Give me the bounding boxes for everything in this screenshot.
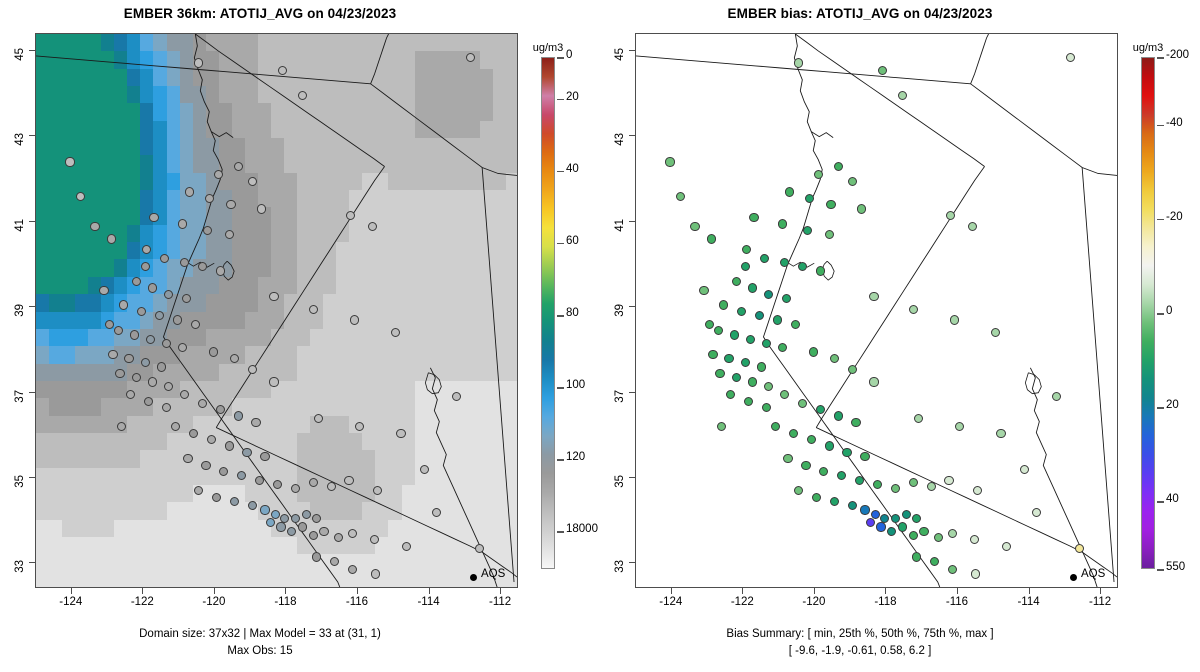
aqs-monitor-point: [255, 476, 264, 485]
aqs-monitor-point: [330, 557, 339, 566]
aqs-monitor-point: [402, 542, 411, 551]
aqs-monitor-point: [105, 320, 114, 329]
aqs-monitor-point: [334, 533, 343, 542]
aqs-monitor-point: [189, 429, 198, 438]
aqs-monitor-point: [746, 335, 755, 344]
model-map-plot: [35, 33, 518, 588]
aqs-monitor-point: [757, 362, 766, 371]
aqs-monitor-point: [76, 192, 85, 201]
aqs-monitor-point: [291, 484, 300, 493]
y-axis-label: 39: [14, 304, 26, 338]
y-axis-tick: [629, 477, 635, 478]
colorbar-tick-label: -20: [1166, 211, 1183, 223]
aqs-monitor-point: [132, 277, 141, 286]
aqs-monitor-point: [927, 482, 936, 491]
aqs-monitor-layer-bias: [636, 34, 1117, 587]
aqs-monitor-point: [198, 399, 207, 408]
x-axis-tick: [285, 588, 286, 594]
aqs-monitor-point: [771, 422, 780, 431]
aqs-monitor-point: [230, 497, 239, 506]
aqs-monitor-point: [327, 482, 336, 491]
aqs-monitor-point: [741, 358, 750, 367]
aqs-monitor-point: [371, 569, 380, 578]
aqs-monitor-point: [946, 211, 955, 220]
aqs-monitor-point: [764, 290, 773, 299]
aqs-monitor-point: [452, 392, 461, 401]
colorbar-tick: [1157, 219, 1164, 221]
aqs-monitor-point: [855, 476, 864, 485]
aqs-monitor-point: [1002, 542, 1011, 551]
x-axis-label: -116: [934, 596, 980, 608]
aqs-monitor-point: [732, 373, 741, 382]
aqs-monitor-point: [991, 328, 1000, 337]
aqs-monitor-point: [344, 476, 353, 485]
aqs-monitor-point: [794, 486, 803, 495]
aqs-monitor-point: [420, 465, 429, 474]
aqs-monitor-point: [108, 350, 117, 359]
x-axis-label: -114: [406, 596, 452, 608]
aqs-monitor-point: [178, 343, 187, 352]
aqs-monitor-point: [785, 187, 794, 196]
y-axis-label: 35: [14, 475, 26, 509]
aqs-monitor-point: [162, 339, 171, 348]
x-axis-tick: [671, 588, 672, 594]
aqs-monitor-point: [1032, 508, 1041, 517]
colorbar-tick-label: 20: [566, 91, 579, 103]
aqs-monitor-point: [773, 315, 782, 324]
aqs-monitor-point: [724, 354, 733, 363]
aqs-monitor-point: [183, 454, 192, 463]
aqs-monitor-point: [762, 339, 771, 348]
x-axis-label: -120: [191, 596, 237, 608]
y-axis-tick: [629, 221, 635, 222]
aqs-monitor-point: [714, 326, 723, 335]
aqs-monitor-point: [160, 254, 169, 263]
y-axis-label: 35: [614, 475, 626, 509]
model-caption-line1: Domain size: 37x32 | Max Model = 33 at (…: [0, 628, 520, 640]
y-axis-tick: [29, 50, 35, 51]
aqs-monitor-point: [789, 429, 798, 438]
x-axis-label: -120: [791, 596, 837, 608]
aqs-monitor-point: [708, 350, 717, 359]
aqs-monitor-point: [180, 258, 189, 267]
x-axis-label: -122: [719, 596, 765, 608]
aqs-monitor-point: [857, 204, 866, 213]
colorbar-tick-label: 40: [1166, 493, 1179, 505]
aqs-monitor-point: [782, 294, 791, 303]
aqs-monitor-point: [148, 283, 157, 292]
aqs-monitor-point: [309, 305, 318, 314]
aqs-monitor-point: [830, 354, 839, 363]
aqs-monitor-point: [805, 194, 814, 203]
aqs-monitor-point: [194, 58, 203, 67]
aqs-monitor-point: [909, 305, 918, 314]
aqs-monitor-point: [137, 307, 146, 316]
aqs-monitor-point: [748, 377, 757, 386]
aqs-monitor-point: [848, 365, 857, 374]
aqs-monitor-point: [107, 234, 116, 243]
aqs-monitor-point: [373, 486, 382, 495]
aqs-monitor-point: [866, 518, 875, 527]
x-axis-tick: [71, 588, 72, 594]
aqs-monitor-point: [287, 527, 296, 536]
colorbar-tick: [557, 171, 564, 173]
x-axis-label: -112: [1077, 596, 1123, 608]
aqs-monitor-point: [742, 245, 751, 254]
y-axis-label: 45: [14, 48, 26, 82]
aqs-monitor-point: [891, 484, 900, 493]
aqs-monitor-point: [309, 478, 318, 487]
colorbar-left: [541, 57, 555, 569]
aqs-monitor-point: [146, 335, 155, 344]
aqs-monitor-point: [744, 397, 753, 406]
y-axis-tick: [629, 562, 635, 563]
aqs-monitor-point: [902, 510, 911, 519]
aqs-monitor-point: [912, 514, 921, 523]
aqs-monitor-point: [919, 527, 928, 536]
aqs-monitor-point: [819, 467, 828, 476]
colorbar-tick-label: 80: [566, 307, 579, 319]
aqs-monitor-point: [141, 262, 150, 271]
aqs-monitor-point: [955, 422, 964, 431]
y-axis-tick: [629, 306, 635, 307]
aqs-monitor-point: [234, 411, 243, 420]
aqs-monitor-point: [141, 358, 150, 367]
y-axis-label: 33: [614, 560, 626, 594]
aqs-monitor-point: [126, 390, 135, 399]
aqs-monitor-point: [242, 448, 251, 457]
bias-map-plot: [635, 33, 1118, 588]
aqs-monitor-point: [748, 283, 757, 292]
aqs-monitor-point: [783, 454, 792, 463]
aqs-monitor-point: [230, 354, 239, 363]
colorbar-tick: [1157, 313, 1164, 315]
aqs-monitor-point: [350, 315, 359, 324]
aqs-monitor-point: [466, 53, 475, 62]
aqs-monitor-point: [124, 354, 133, 363]
x-axis-label: -112: [477, 596, 523, 608]
aqs-monitor-point: [780, 390, 789, 399]
aqs-monitor-point: [182, 294, 191, 303]
aqs-monitor-point: [475, 544, 484, 553]
aqs-monitor-point: [891, 514, 900, 523]
aqs-monitor-point: [142, 245, 151, 254]
colorbar-tick: [1157, 569, 1164, 571]
aqs-monitor-point: [707, 234, 716, 243]
colorbar-tick: [557, 387, 564, 389]
colorbar-right: [1141, 57, 1155, 569]
aqs-monitor-point: [968, 222, 977, 231]
aqs-monitor-point: [162, 403, 171, 412]
page-title-bias: EMBER bias: ATOTIJ_AVG on 04/23/2023: [600, 6, 1120, 21]
y-axis-label: 37: [14, 390, 26, 424]
aqs-monitor-point: [130, 330, 139, 339]
colorbar-tick: [1157, 125, 1164, 127]
x-axis-label: -124: [48, 596, 94, 608]
aqs-monitor-point: [194, 486, 203, 495]
aqs-monitor-point: [1020, 465, 1029, 474]
aqs-monitor-point: [755, 311, 764, 320]
aqs-monitor-point: [749, 213, 758, 222]
aqs-monitor-point: [216, 266, 225, 275]
y-axis-tick: [629, 392, 635, 393]
x-axis-label: -118: [262, 596, 308, 608]
aqs-monitor-point: [65, 157, 74, 166]
aqs-monitor-point: [148, 377, 157, 386]
x-axis-label: -122: [119, 596, 165, 608]
aqs-monitor-point: [201, 461, 210, 470]
aqs-monitor-point: [164, 290, 173, 299]
x-axis-tick: [885, 588, 886, 594]
colorbar-tick-label: 20: [1166, 399, 1179, 411]
aqs-monitor-point: [234, 162, 243, 171]
aqs-monitor-point: [248, 365, 257, 374]
aqs-monitor-point: [934, 533, 943, 542]
aqs-monitor-point: [690, 222, 699, 231]
aqs-monitor-point: [368, 222, 377, 231]
aqs-monitor-point: [191, 320, 200, 329]
aqs-monitor-point: [309, 531, 318, 540]
aqs-monitor-point: [248, 501, 257, 510]
bias-caption-line2: [ -9.6, -1.9, -0.61, 0.58, 6.2 ]: [600, 645, 1120, 657]
x-axis-tick: [429, 588, 430, 594]
aqs-monitor-point: [212, 493, 221, 502]
aqs-monitor-point: [273, 480, 282, 489]
aqs-monitor-point: [825, 441, 834, 450]
y-axis-tick: [29, 562, 35, 563]
aqs-monitor-point: [302, 510, 311, 519]
aqs-monitor-point: [807, 435, 816, 444]
x-axis-tick: [214, 588, 215, 594]
colorbar-tick-label: 550: [1166, 561, 1185, 573]
aqs-monitor-point: [737, 307, 746, 316]
aqs-monitor-point: [814, 170, 823, 179]
x-axis-label: -118: [862, 596, 908, 608]
aqs-monitor-point: [741, 262, 750, 271]
colorbar-tick: [557, 57, 564, 59]
aqs-monitor-point: [114, 326, 123, 335]
aqs-monitor-point: [973, 486, 982, 495]
aqs-monitor-point: [930, 557, 939, 566]
aqs-monitor-point: [171, 422, 180, 431]
x-axis-tick: [957, 588, 958, 594]
aqs-legend-label-bias: AQS: [1081, 568, 1105, 580]
y-axis-label: 39: [614, 304, 626, 338]
aqs-monitor-point: [1052, 392, 1061, 401]
aqs-monitor-point: [144, 397, 153, 406]
aqs-monitor-point: [260, 452, 269, 461]
aqs-monitor-point: [912, 552, 921, 561]
y-axis-tick: [29, 306, 35, 307]
aqs-monitor-point: [225, 230, 234, 239]
model-caption-line2: Max Obs: 15: [0, 645, 520, 657]
aqs-monitor-point: [207, 435, 216, 444]
aqs-monitor-point: [164, 382, 173, 391]
colorbar-tick: [557, 459, 564, 461]
aqs-monitor-point: [876, 522, 885, 531]
x-axis-label: -124: [648, 596, 694, 608]
aqs-monitor-point: [676, 192, 685, 201]
aqs-monitor-point: [830, 497, 839, 506]
aqs-monitor-point: [887, 527, 896, 536]
aqs-monitor-point: [816, 266, 825, 275]
aqs-monitor-layer-model: [36, 34, 517, 587]
aqs-monitor-point: [157, 362, 166, 371]
aqs-monitor-point: [115, 369, 124, 378]
y-axis-label: 45: [614, 48, 626, 82]
y-axis-label: 41: [614, 219, 626, 253]
colorbar-tick-label: 0: [566, 49, 572, 61]
aqs-monitor-point: [778, 219, 787, 228]
aqs-monitor-point: [909, 478, 918, 487]
aqs-monitor-point: [837, 471, 846, 480]
aqs-monitor-point: [801, 461, 810, 470]
x-axis-tick: [142, 588, 143, 594]
aqs-monitor-point: [269, 292, 278, 301]
colorbar-tick: [1157, 501, 1164, 503]
aqs-monitor-point: [119, 300, 128, 309]
aqs-monitor-point: [809, 347, 818, 356]
colorbar-tick-label: -200: [1166, 49, 1189, 61]
y-axis-tick: [629, 135, 635, 136]
aqs-monitor-point: [205, 194, 214, 203]
colorbar-tick: [557, 243, 564, 245]
colorbar-tick: [1157, 407, 1164, 409]
aqs-monitor-point: [948, 529, 957, 538]
aqs-monitor-point: [726, 390, 735, 399]
aqs-monitor-point: [699, 286, 708, 295]
aqs-monitor-point: [719, 300, 728, 309]
aqs-monitor-point: [278, 66, 287, 75]
aqs-monitor-point: [269, 377, 278, 386]
aqs-monitor-point: [226, 200, 235, 209]
colorbar-tick: [557, 531, 564, 533]
aqs-monitor-point: [717, 422, 726, 431]
aqs-monitor-point: [944, 476, 953, 485]
aqs-monitor-point: [851, 418, 860, 427]
aqs-monitor-point: [705, 320, 714, 329]
aqs-monitor-point: [348, 529, 357, 538]
aqs-monitor-point: [348, 565, 357, 574]
aqs-monitor-point: [180, 390, 189, 399]
y-axis-tick: [29, 221, 35, 222]
aqs-monitor-point: [760, 254, 769, 263]
aqs-monitor-point: [869, 292, 878, 301]
y-axis-tick: [29, 135, 35, 136]
aqs-monitor-point: [173, 315, 182, 324]
aqs-monitor-point: [155, 311, 164, 320]
aqs-monitor-point: [812, 493, 821, 502]
aqs-legend-dot: [470, 574, 477, 581]
aqs-monitor-point: [225, 441, 234, 450]
aqs-legend-label: AQS: [481, 568, 505, 580]
aqs-monitor-point: [132, 373, 141, 382]
aqs-monitor-point: [1075, 544, 1084, 553]
aqs-monitor-point: [780, 258, 789, 267]
aqs-monitor-point: [198, 262, 207, 271]
x-axis-label: -114: [1006, 596, 1052, 608]
aqs-monitor-point: [791, 320, 800, 329]
aqs-monitor-point: [251, 418, 260, 427]
aqs-monitor-point: [396, 429, 405, 438]
colorbar-tick-label: 100: [566, 379, 585, 391]
aqs-monitor-point: [266, 518, 275, 527]
aqs-monitor-point: [826, 200, 835, 209]
aqs-monitor-point: [203, 226, 212, 235]
aqs-monitor-point: [214, 170, 223, 179]
aqs-monitor-point: [209, 347, 218, 356]
aqs-monitor-point: [260, 505, 269, 514]
aqs-monitor-point: [971, 569, 980, 578]
aqs-monitor-point: [715, 369, 724, 378]
aqs-monitor-point: [99, 286, 108, 295]
y-axis-label: 43: [14, 133, 26, 167]
bias-caption-line1: Bias Summary: [ min, 25th %, 50th %, 75t…: [600, 628, 1120, 640]
aqs-monitor-point: [312, 514, 321, 523]
aqs-monitor-point: [816, 405, 825, 414]
aqs-monitor-point: [257, 204, 266, 213]
aqs-monitor-point: [355, 422, 364, 431]
aqs-monitor-point: [319, 527, 328, 536]
x-axis-tick: [814, 588, 815, 594]
aqs-monitor-point: [970, 535, 979, 544]
aqs-monitor-point: [291, 514, 300, 523]
aqs-monitor-point: [873, 480, 882, 489]
aqs-monitor-point: [948, 565, 957, 574]
y-axis-label: 41: [14, 219, 26, 253]
aqs-monitor-point: [848, 501, 857, 510]
aqs-monitor-point: [298, 522, 307, 531]
aqs-monitor-point: [314, 414, 323, 423]
aqs-monitor-point: [391, 328, 400, 337]
aqs-monitor-point: [834, 411, 843, 420]
aqs-monitor-point: [276, 522, 285, 531]
aqs-monitor-point: [432, 508, 441, 517]
aqs-monitor-point: [878, 66, 887, 75]
aqs-monitor-point: [178, 219, 187, 228]
aqs-monitor-point: [848, 177, 857, 186]
aqs-monitor-point: [825, 230, 834, 239]
aqs-monitor-point: [219, 467, 228, 476]
aqs-monitor-point: [996, 429, 1005, 438]
colorbar-tick-label: 120: [566, 451, 585, 463]
y-axis-label: 43: [614, 133, 626, 167]
aqs-monitor-point: [312, 552, 321, 561]
aqs-legend-dot-bias: [1070, 574, 1077, 581]
x-axis-tick: [742, 588, 743, 594]
aqs-monitor-point: [730, 330, 739, 339]
aqs-monitor-point: [898, 91, 907, 100]
aqs-monitor-point: [834, 162, 843, 171]
aqs-monitor-point: [898, 522, 907, 531]
aqs-monitor-point: [778, 343, 787, 352]
aqs-monitor-point: [762, 403, 771, 412]
y-axis-label: 33: [14, 560, 26, 594]
colorbar-tick: [557, 99, 564, 101]
colorbar-tick: [1157, 57, 1164, 59]
aqs-monitor-point: [237, 471, 246, 480]
aqs-monitor-point: [346, 211, 355, 220]
panel-bias: EMBER bias: ATOTIJ_AVG on 04/23/2023 333…: [600, 0, 1200, 672]
colorbar-tick-label: -40: [1166, 117, 1183, 129]
y-axis-tick: [29, 477, 35, 478]
colorbar-tick-label: 40: [566, 163, 579, 175]
colorbar-tick-label: 18000: [566, 523, 598, 535]
aqs-monitor-point: [764, 382, 773, 391]
x-axis-label: -116: [334, 596, 380, 608]
colorbar-tick-label: 60: [566, 235, 579, 247]
aqs-monitor-point: [248, 177, 257, 186]
